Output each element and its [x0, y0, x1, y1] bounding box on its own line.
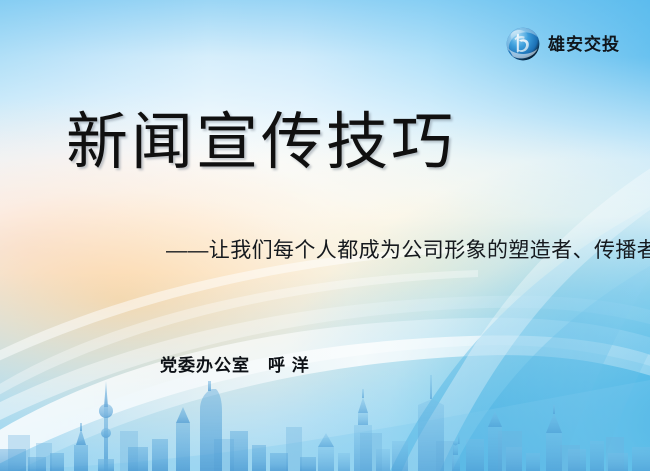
slide-presenter: 党委办公室 呼 洋	[160, 356, 310, 376]
company-logo: 雄安交投	[505, 26, 620, 62]
slide-subtitle: ——让我们每个人都成为公司形象的塑造者、传播者	[166, 238, 650, 263]
presentation-slide: 雄安交投 新闻宣传技巧 ——让我们每个人都成为公司形象的塑造者、传播者 党委办公…	[0, 0, 650, 471]
city-skyline-silhouette	[0, 361, 650, 471]
xiongan-jiaotou-emblem-icon	[505, 26, 541, 62]
slide-title: 新闻宣传技巧	[66, 108, 456, 179]
company-logo-text: 雄安交投	[548, 36, 620, 53]
